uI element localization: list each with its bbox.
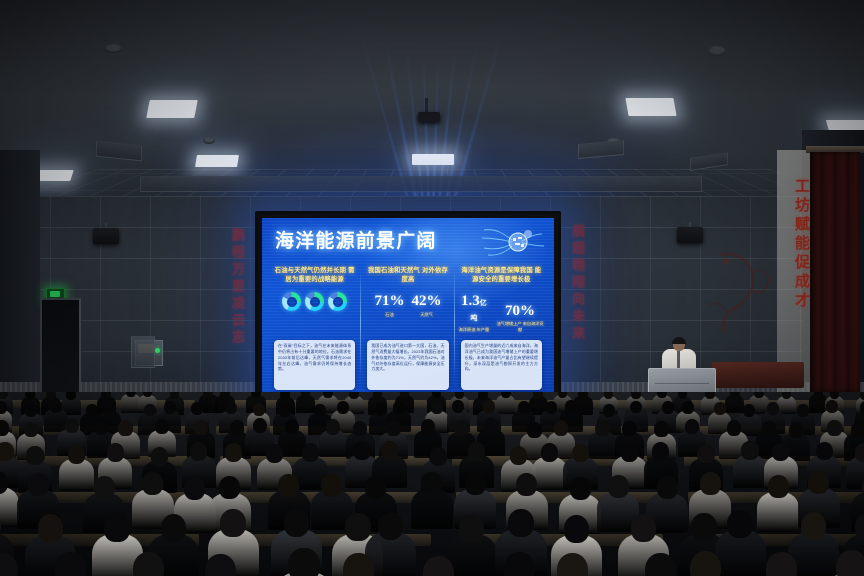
audience-head xyxy=(280,392,290,400)
audience-head xyxy=(279,404,291,417)
audience-head xyxy=(65,418,79,434)
audience-head xyxy=(104,402,116,415)
ceiling-vent-right xyxy=(578,140,624,159)
audience-head xyxy=(107,443,124,462)
audience-head xyxy=(184,477,205,500)
audience-head xyxy=(25,392,35,400)
audience-head xyxy=(557,553,588,576)
audience-head xyxy=(86,404,98,417)
audience-head xyxy=(766,552,797,576)
audience-head xyxy=(375,403,387,416)
audience-member xyxy=(674,551,736,576)
stat-oil-dependency: 71% 石油 xyxy=(374,294,404,317)
audience-head xyxy=(827,420,841,436)
ceiling-light-2 xyxy=(625,98,676,116)
column-1-note-text: 在“双碳”目标之下，油气在未来能源体系中仍将占有十分重要的地位。石油需求在203… xyxy=(278,343,351,372)
audience-head xyxy=(508,509,534,537)
audience-head xyxy=(349,392,359,399)
audience-member xyxy=(328,553,390,576)
audience-head xyxy=(604,392,614,399)
stat-share-caption: 油气增储上产 来自海洋贡献 xyxy=(496,321,544,332)
slide-column-1: 石油与天然气仍然并长期 需居为重要的战略能源 在“双碳”目标之下，油气在未来能源… xyxy=(270,266,359,390)
stat-gas-value: 42% xyxy=(411,294,441,309)
audience-head xyxy=(302,443,319,462)
audience-head xyxy=(645,553,676,576)
wall-speaker-left xyxy=(93,228,119,244)
podium-edge xyxy=(655,383,709,384)
audience-head xyxy=(518,401,530,414)
audience-head xyxy=(38,514,64,542)
audience-head xyxy=(743,404,755,417)
stat-offshore-output: 1.3亿吨 海洋原油 年产量 xyxy=(459,294,489,332)
audience-head xyxy=(321,474,342,497)
audience-head xyxy=(836,550,864,576)
column-3-heading: 海洋油气资源是保障我国 能源安全的重要增长极 xyxy=(459,266,544,284)
audience-head xyxy=(278,474,299,497)
stat-oil-value: 71% xyxy=(374,294,404,309)
stage-table xyxy=(712,362,804,388)
audience-head xyxy=(353,442,370,461)
audience-head xyxy=(685,419,699,435)
audience-head xyxy=(730,392,740,398)
audience-head xyxy=(564,515,590,543)
column-1-note: 在“双碳”目标之下，油气在未来能源体系中仍将占有十分重要的地位。石油需求在203… xyxy=(274,340,355,390)
audience-head xyxy=(0,420,9,436)
stat-gas-caption: 天然气 xyxy=(411,312,441,317)
audience-head xyxy=(483,400,495,413)
audience-head xyxy=(662,401,674,414)
audience-head xyxy=(205,554,236,576)
audience-head xyxy=(772,443,789,462)
column-3-note-text: 国内油气生产增量的近六成来自海洋，海洋油气已成为我国油气增储上产的重要增长极。未… xyxy=(465,343,538,372)
audience-head xyxy=(323,392,333,398)
audience-head xyxy=(118,420,132,436)
audience-head xyxy=(161,514,187,542)
audience-head xyxy=(595,421,609,437)
audience-head xyxy=(630,401,642,414)
audience-head xyxy=(343,553,374,576)
audience-head xyxy=(459,514,485,542)
audience-head xyxy=(678,392,688,399)
slide-columns: 石油与天然气仍然并长期 需居为重要的战略能源 在“双碳”目标之下，油气在未来能源… xyxy=(270,266,546,390)
audience-member xyxy=(820,550,864,576)
calligraphy-banner-far-right: 工坊赋能促成才 xyxy=(791,178,812,311)
column-3-stats: 1.3亿吨 海洋原油 年产量 70% 油气增储上产 来自海洋贡献 xyxy=(459,294,544,332)
donut-gauge-3 xyxy=(328,292,347,311)
audience-head xyxy=(220,392,230,398)
audience-head xyxy=(565,400,577,413)
audience-head xyxy=(700,472,721,495)
audience-head xyxy=(378,512,404,540)
audience-head xyxy=(225,402,237,415)
audience-head xyxy=(657,476,678,499)
audience-head xyxy=(284,509,310,537)
audience-head xyxy=(142,472,163,495)
presenter-hair xyxy=(672,337,686,344)
audience-head xyxy=(144,404,156,417)
wall-panel-left xyxy=(131,336,155,368)
audience-head xyxy=(554,420,568,436)
control-box-indicator xyxy=(155,348,160,353)
audience-member xyxy=(542,553,604,576)
audience-head xyxy=(714,402,726,415)
audience-head xyxy=(851,422,864,438)
audience-head xyxy=(622,421,636,437)
calligraphy-banner-right: 展翅翱翔向未来 xyxy=(568,224,587,343)
audience-head xyxy=(516,473,537,496)
audience-head xyxy=(652,442,669,461)
calligraphy-banner-left: 鹏程万里凌云志 xyxy=(228,228,247,347)
smoke-detector-3 xyxy=(203,137,215,144)
audience-head xyxy=(801,512,827,540)
audience-member xyxy=(117,552,179,576)
audience-head xyxy=(797,404,809,417)
smoke-detector-2 xyxy=(708,46,726,56)
audience-head xyxy=(860,401,864,414)
audience-head xyxy=(468,442,485,461)
audience-head xyxy=(546,401,558,414)
audience-head xyxy=(55,552,86,576)
wall-speaker-right xyxy=(677,227,703,243)
audience-head xyxy=(94,420,108,436)
audience-head xyxy=(194,420,208,436)
donut-gauge-group xyxy=(272,292,357,311)
audience-member xyxy=(407,556,469,576)
ceiling-light-1 xyxy=(146,100,197,118)
audience-member xyxy=(751,552,813,576)
audience-head xyxy=(631,514,657,542)
audience-head xyxy=(855,443,864,462)
audience-head xyxy=(421,472,442,495)
ceiling xyxy=(0,0,864,212)
column-2-note-text: 我国已成为油气进口第一大国，石油、天然气消费量大幅增长。2023年我国石油对外依… xyxy=(371,343,444,372)
audience-head xyxy=(381,441,398,460)
lecture-hall-photo: 鹏程万里凌云志 展翅翱翔向未来 工坊赋能促成才 海洋能源前景广阔 xyxy=(0,0,864,576)
audience-head xyxy=(826,400,838,413)
audience-member xyxy=(0,553,34,576)
audience-head xyxy=(225,443,242,462)
ceiling-light-4 xyxy=(195,155,239,167)
slide-column-2: 我国石油和天然气 对外依存度高 71% 石油 42% 天然气 我国已成为油气进口… xyxy=(363,266,452,390)
stat-oil-caption: 石油 xyxy=(374,312,404,317)
audience-head xyxy=(452,400,464,413)
audience-head xyxy=(66,392,76,400)
globe-graphic xyxy=(482,222,544,262)
audience-head xyxy=(220,509,246,537)
audience-head xyxy=(431,401,443,414)
audience-head xyxy=(0,401,7,414)
audience-head xyxy=(28,473,49,496)
audience-head xyxy=(767,402,779,415)
audience-head xyxy=(24,422,38,438)
audience-head xyxy=(253,418,267,434)
audience-head xyxy=(421,419,435,435)
stat-offshore-number: 1.3 xyxy=(461,293,480,309)
audience-head xyxy=(682,401,694,414)
audience-head xyxy=(266,444,283,463)
stat-share-value: 70% xyxy=(496,304,544,319)
audience-head xyxy=(478,392,488,400)
audience-member xyxy=(273,548,335,576)
presenter-lanyard xyxy=(677,351,680,368)
audience-head xyxy=(50,400,62,413)
ink-painting-artwork xyxy=(700,245,780,340)
left-wall xyxy=(0,150,40,420)
ceiling-light-5 xyxy=(412,154,454,165)
column-1-heading: 石油与天然气仍然并长期 需居为重要的战略能源 xyxy=(272,266,357,284)
audience-head xyxy=(337,401,349,414)
audience-head xyxy=(386,420,400,436)
audience-head xyxy=(816,442,833,461)
red-curtain xyxy=(810,152,860,392)
audience-head xyxy=(455,392,465,399)
audience-head xyxy=(768,475,789,498)
audience-head xyxy=(570,477,591,500)
audience-head xyxy=(465,472,486,495)
audience-head xyxy=(741,441,758,460)
audience-head xyxy=(860,392,864,400)
audience-head xyxy=(353,421,367,437)
ceiling-projector xyxy=(418,112,440,122)
audience-head xyxy=(326,419,340,435)
audience-head xyxy=(727,420,741,436)
audience-head xyxy=(654,421,668,437)
audience-head xyxy=(762,421,776,437)
slide-title: 海洋能源前景广阔 xyxy=(275,226,437,253)
audience-head xyxy=(219,476,240,499)
audience-head xyxy=(727,510,753,538)
audience-head xyxy=(621,443,638,462)
audience-head xyxy=(151,447,168,466)
audience-head xyxy=(104,514,130,542)
ceiling-vent-left xyxy=(96,141,142,162)
donut-gauge-1 xyxy=(282,292,301,311)
audience-seating: NEW YORK Yankees MAKI STAR xyxy=(0,392,864,576)
audience-member xyxy=(190,554,252,576)
audience-head xyxy=(510,446,527,465)
column-2-note: 我国已成为油气进口第一大国，石油、天然气消费量大幅增长。2023年我国石油对外依… xyxy=(367,340,448,390)
audience-head xyxy=(789,422,803,438)
audience-head xyxy=(25,404,37,417)
audience-head xyxy=(603,404,615,417)
projection-screen[interactable]: 海洋能源前景广阔 石油与天然气仍然并长期 需居为重要的战略能源 xyxy=(255,211,561,403)
audience-head xyxy=(230,420,244,436)
donut-gauge-2 xyxy=(305,292,324,311)
audience-head xyxy=(285,419,299,435)
audience-head xyxy=(190,442,207,461)
audience-head xyxy=(572,444,589,463)
stat-offshore-share: 70% 油气增储上产 来自海洋贡献 xyxy=(496,304,544,332)
audience-head xyxy=(94,476,115,499)
slide-column-3: 海洋油气资源是保障我国 能源安全的重要增长极 1.3亿吨 海洋原油 年产量 70… xyxy=(457,266,546,390)
audience-head xyxy=(631,392,641,399)
column-2-stats: 71% 石油 42% 天然气 xyxy=(365,294,450,317)
column-divider-2 xyxy=(454,268,455,378)
audience-head xyxy=(68,445,85,464)
stat-offshore-value: 1.3亿吨 xyxy=(459,294,489,324)
audience-head xyxy=(690,551,721,576)
audience-head xyxy=(691,513,717,541)
audience-head xyxy=(454,420,468,436)
audience-head xyxy=(26,446,43,465)
audience-head xyxy=(133,552,164,576)
column-divider-1 xyxy=(360,268,361,378)
audience-head xyxy=(808,471,829,494)
audience-head xyxy=(253,403,265,416)
stat-offshore-caption: 海洋原油 年产量 xyxy=(459,327,489,332)
smoke-detector-1 xyxy=(105,44,122,53)
audience-head xyxy=(430,447,447,466)
column-2-heading: 我国石油和天然气 对外依存度高 xyxy=(365,266,450,284)
presentation-slide: 海洋能源前景广阔 石油与天然气仍然并长期 需居为重要的战略能源 xyxy=(262,218,554,396)
audience-head xyxy=(830,392,840,399)
audience-head xyxy=(0,553,18,576)
audience-head xyxy=(155,419,169,435)
audience-head xyxy=(314,404,326,417)
audience-head xyxy=(251,392,261,398)
audience-head xyxy=(191,402,203,415)
audience-head xyxy=(0,442,14,461)
ceiling-soffit xyxy=(140,176,702,192)
audience-head xyxy=(504,552,535,576)
audience-head xyxy=(393,401,405,414)
audience-head xyxy=(697,445,714,464)
exit-sign-glyph xyxy=(50,291,60,297)
audience-head xyxy=(288,548,319,576)
column-3-note: 国内油气生产增量的近六成来自海洋，海洋油气已成为我国油气增储上产的重要增长极。未… xyxy=(461,340,542,390)
audience-member xyxy=(39,552,101,576)
audience-head xyxy=(541,443,558,462)
audience-head xyxy=(484,418,498,434)
audience-head xyxy=(423,556,454,576)
audience-head xyxy=(365,476,386,499)
stat-gas-dependency: 42% 天然气 xyxy=(411,294,441,317)
audience-head xyxy=(608,475,629,498)
audience-head xyxy=(46,392,56,400)
audience-head xyxy=(527,422,541,438)
audience-head xyxy=(164,401,176,414)
